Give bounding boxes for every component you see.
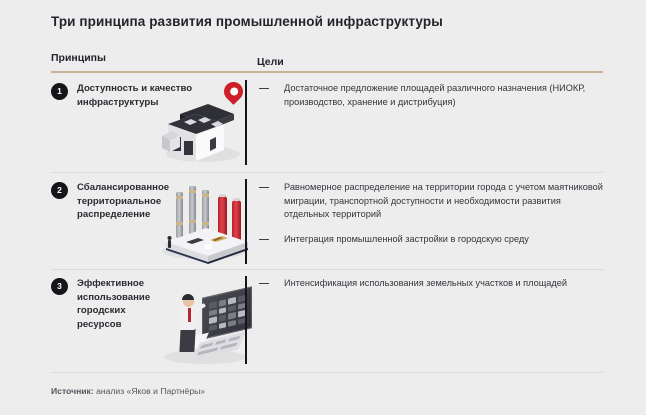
row-vertical-separator — [245, 276, 247, 364]
goal-item: Интенсификация использования земельных у… — [258, 277, 603, 291]
source-label: Источник: — [51, 386, 94, 396]
necktie-icon — [188, 308, 191, 322]
goal-item: Интеграция промышленной застройки в горо… — [258, 233, 603, 247]
dash-bullet-icon — [259, 283, 269, 284]
goal-text: Достаточное предложение площадей различн… — [284, 83, 585, 107]
principle-number-badge: 2 — [51, 182, 68, 199]
slide-root: Три принципа развития промышленной инфра… — [0, 0, 646, 415]
source-text: анализ «Яков и Партнёры» — [94, 386, 205, 396]
goal-item: Равномерное распределение на территории … — [258, 181, 603, 222]
row-vertical-separator — [245, 179, 247, 264]
goal-text: Интеграция промышленной застройки в горо… — [284, 234, 529, 244]
dashboard-grid — [209, 295, 245, 331]
industrial-plant-icon — [158, 180, 254, 264]
column-headers: Принципы Цели — [51, 52, 603, 72]
goals-cell: Интенсификация использования земельных у… — [258, 277, 603, 291]
table-row: 3 Эффективное использование городских ре… — [51, 273, 603, 368]
page-title: Три принципа развития промышленной инфра… — [51, 14, 443, 29]
dash-bullet-icon — [259, 239, 269, 240]
dash-bullet-icon — [259, 88, 269, 89]
goal-item: Достаточное предложение площадей различн… — [258, 82, 603, 109]
plant-base-svg — [158, 180, 254, 264]
goals-cell: Равномерное распределение на территории … — [258, 181, 603, 246]
goal-text: Равномерное распределение на территории … — [284, 182, 603, 219]
analyst-hair — [182, 294, 194, 300]
header-accent-rule — [51, 71, 603, 73]
table-row: 2 Сбалансированное территориальное распр… — [51, 177, 603, 267]
warehouse-with-map-pin-icon — [158, 84, 248, 168]
row-divider — [51, 269, 603, 270]
goals-cell: Достаточное предложение площадей различн… — [258, 82, 603, 109]
principle-number-badge: 1 — [51, 83, 68, 100]
row-divider — [51, 372, 603, 373]
source-note: Источник: анализ «Яков и Партнёры» — [51, 386, 205, 396]
column-header-principles: Принципы — [51, 52, 106, 64]
analyst-with-dashboard-icon — [158, 286, 256, 368]
column-header-goals: Цели — [257, 56, 602, 68]
table-row: 1 Доступность и качество инфраструктуры … — [51, 78, 603, 166]
row-vertical-separator — [245, 80, 247, 165]
dash-bullet-icon — [259, 187, 269, 188]
goal-text: Интенсификация использования земельных у… — [284, 278, 567, 288]
principle-number-badge: 3 — [51, 278, 68, 295]
analyst-legs — [179, 328, 195, 352]
row-divider — [51, 172, 603, 173]
